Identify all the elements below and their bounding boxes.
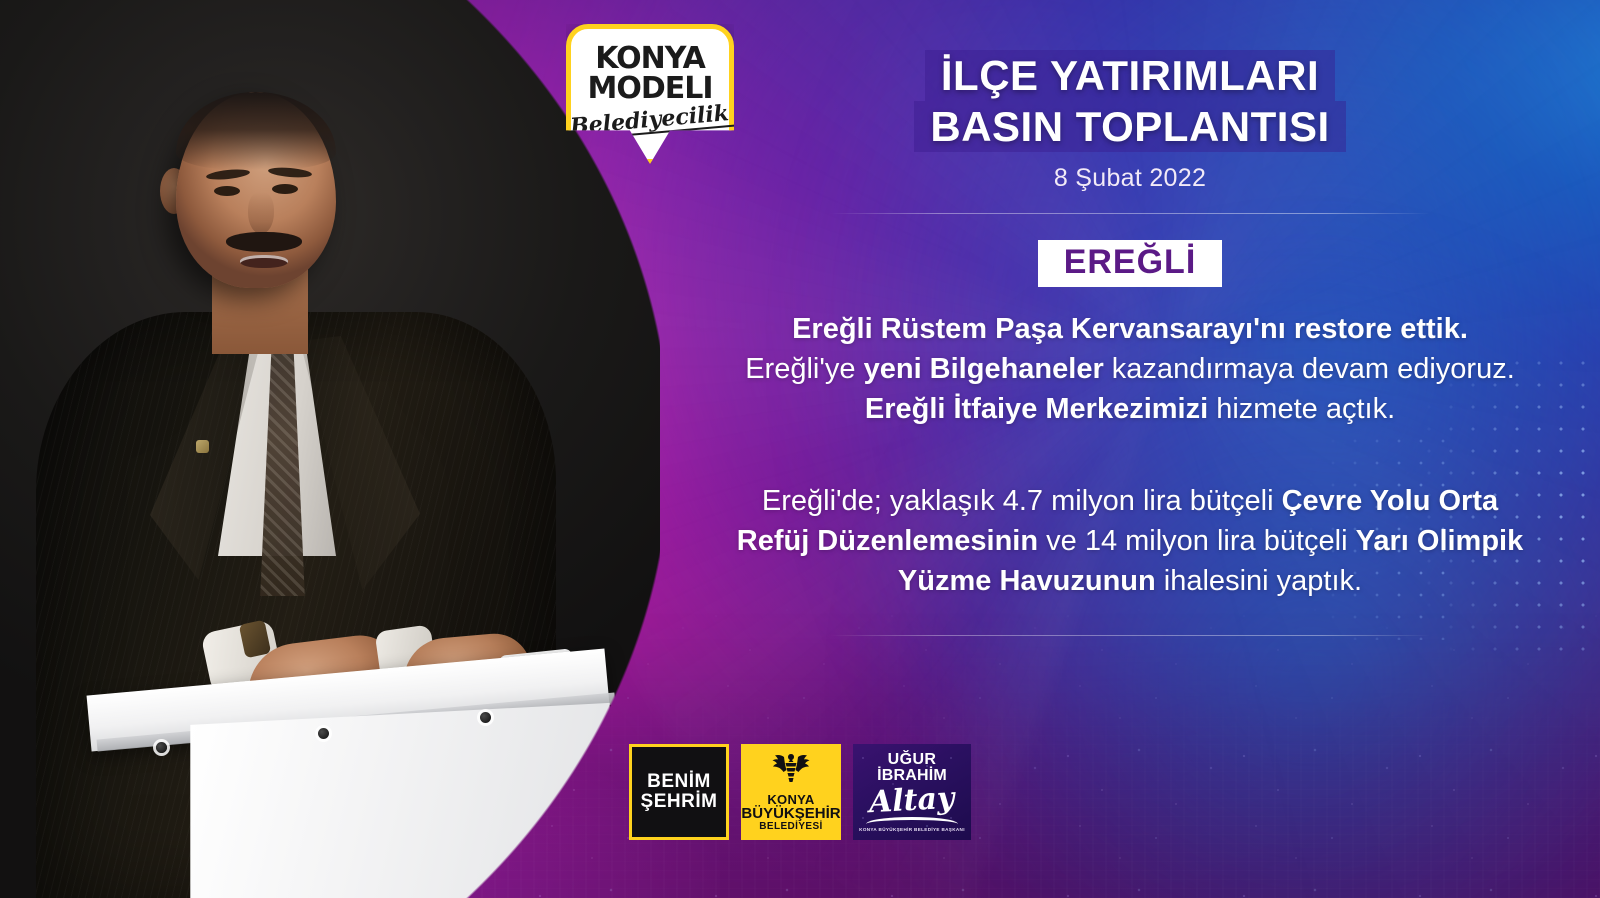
benim-sehrim-line-1: BENİM [647, 772, 711, 792]
konya-logo-line-2: BÜYÜKŞEHİR [741, 806, 840, 821]
partner-logo-row: BENİM ŞEHRİM KONYA BÜYÜKŞEHİR BELEDİYESİ [0, 744, 1600, 840]
speaker-lapel-pin [196, 440, 209, 453]
text-run-bold: Ereğli İtfaiye Merkezimizi [865, 393, 1208, 425]
altay-swoosh-icon [866, 817, 958, 824]
konya-logo-line-3: BELEDİYESİ [759, 822, 822, 832]
altay-line-3: Altay [869, 783, 956, 817]
district-badge: EREĞLİ [1038, 240, 1223, 287]
text-run-regular: Ereğli'de; yaklaşık 4.7 milyon lira bütç… [762, 485, 1282, 517]
text-run-bold: Ereğli Rüstem Paşa Kervansarayı'nı resto… [792, 313, 1468, 345]
text-run-bold: yeni Bilgehaneler [864, 353, 1104, 385]
paragraph-2: Ereğli'de; yaklaşık 4.7 milyon lira bütç… [735, 481, 1525, 601]
speaker-eye-left [214, 186, 240, 196]
paragraph-1: Ereğli Rüstem Paşa Kervansarayı'nı resto… [735, 309, 1525, 429]
divider-bottom [830, 635, 1430, 636]
badge-line-konya: KONYA [595, 45, 705, 73]
benim-sehrim-logo: BENİM ŞEHRİM [629, 744, 729, 840]
text-run-regular: ve 14 milyon lira bütçeli [1038, 525, 1356, 557]
text-run-regular: Ereğli'ye [745, 353, 863, 385]
altay-subtitle: KONYA BÜYÜKŞEHİR BELEDİYE BAŞKANI [859, 827, 965, 832]
konya-buyuksehir-logo: KONYA BÜYÜKŞEHİR BELEDİYESİ [741, 744, 841, 840]
benim-sehrim-line-2: ŞEHRİM [641, 792, 718, 812]
ugur-ibrahim-altay-logo: UĞUR İBRAHİM Altay KONYA BÜYÜKŞEHİR BELE… [853, 744, 971, 840]
text-run-regular: kazandırmaya devam ediyoruz. [1104, 353, 1515, 385]
podium-screw-2 [318, 728, 329, 739]
podium-screw-3 [480, 712, 491, 723]
badge-line-modeli: MODELI [587, 75, 712, 103]
speaker-nose [248, 192, 274, 234]
seljuk-double-headed-eagle-icon [765, 750, 817, 790]
divider-top [830, 213, 1430, 214]
event-date: 8 Şubat 2022 [700, 164, 1560, 193]
header-title-block: İLÇE YATIRIMLARI BASIN TOPLANTISI [914, 50, 1345, 152]
speaker-mouth [240, 255, 288, 268]
text-run-regular: ihalesini yaptık. [1156, 565, 1362, 597]
altay-line-1: UĞUR [888, 752, 937, 768]
title-line-2: BASIN TOPLANTISI [914, 101, 1345, 152]
poster-canvas: KONYA MODELI Belediyecilik İLÇE YATIRIML… [0, 0, 1600, 898]
text-run-regular: hizmete açtık. [1208, 393, 1395, 425]
speaker-moustache [226, 232, 302, 252]
speaker-eye-right [272, 184, 298, 194]
title-line-1: İLÇE YATIRIMLARI [925, 50, 1335, 101]
